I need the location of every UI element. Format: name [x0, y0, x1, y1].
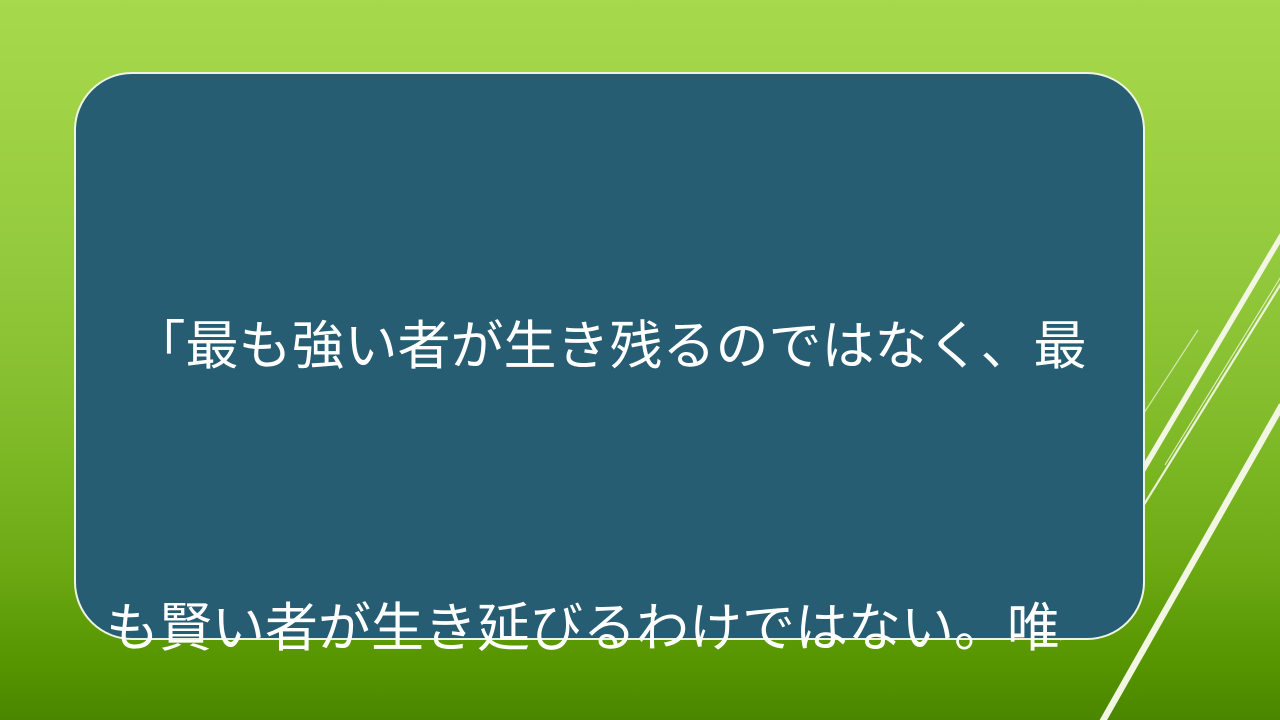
quote-callout-box: 「最も強い者が生き残るのではなく、最 も賢い者が生き延びるわけではない。唯 一生…	[74, 72, 1145, 640]
presentation-slide: 「最も強い者が生き残るのではなく、最 も賢い者が生き延びるわけではない。唯 一生…	[0, 0, 1280, 720]
quote-text-block: 「最も強い者が生き残るのではなく、最 も賢い者が生き延びるわけではない。唯 一生…	[106, 112, 1117, 720]
quote-line: 「最も強い者が生き残るのではなく、最	[106, 300, 1117, 394]
quote-line: も賢い者が生き延びるわけではない。唯	[106, 582, 1117, 676]
